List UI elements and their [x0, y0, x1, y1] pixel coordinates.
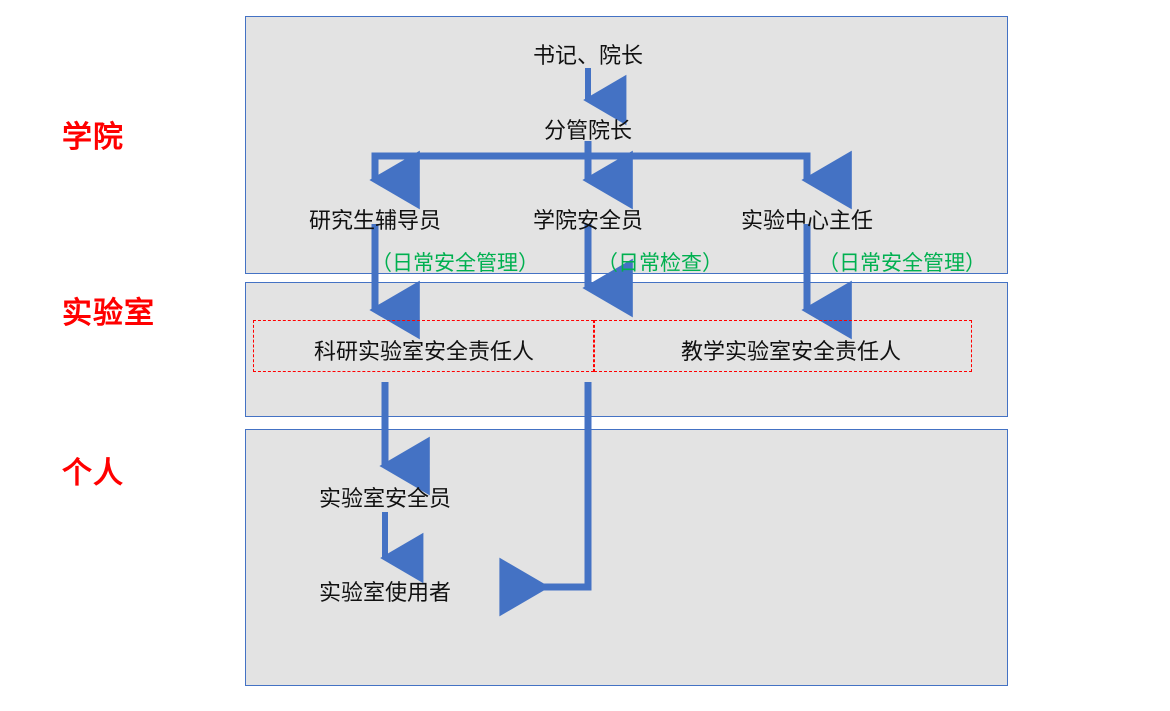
- node-graduate-counselor: 研究生辅导员: [309, 203, 441, 235]
- tier-label-college: 学院: [62, 112, 124, 156]
- tier-label-person: 个人: [62, 448, 124, 492]
- panel-person: [245, 429, 1008, 686]
- tier-label-laboratory: 实验室: [62, 288, 155, 332]
- label-teaching-lab-safety-officer: 教学实验室安全责任人: [681, 334, 901, 366]
- node-lab-center-director: 实验中心主任: [741, 203, 873, 235]
- note-daily-safety-management-right: （日常安全管理）: [818, 247, 986, 277]
- org-chart-diagram: 学院 实验室 个人: [0, 0, 1170, 711]
- node-vice-dean: 分管院长: [544, 113, 632, 145]
- node-college-safety-officer: 学院安全员: [533, 203, 643, 235]
- node-dean: 书记、院长: [533, 38, 643, 70]
- note-daily-inspection: （日常检查）: [597, 247, 723, 277]
- note-daily-safety-management-left: （日常安全管理）: [371, 247, 539, 277]
- label-research-lab-safety-officer: 科研实验室安全责任人: [314, 334, 534, 366]
- node-lab-user: 实验室使用者: [319, 575, 451, 607]
- node-lab-safety-officer: 实验室安全员: [319, 481, 451, 513]
